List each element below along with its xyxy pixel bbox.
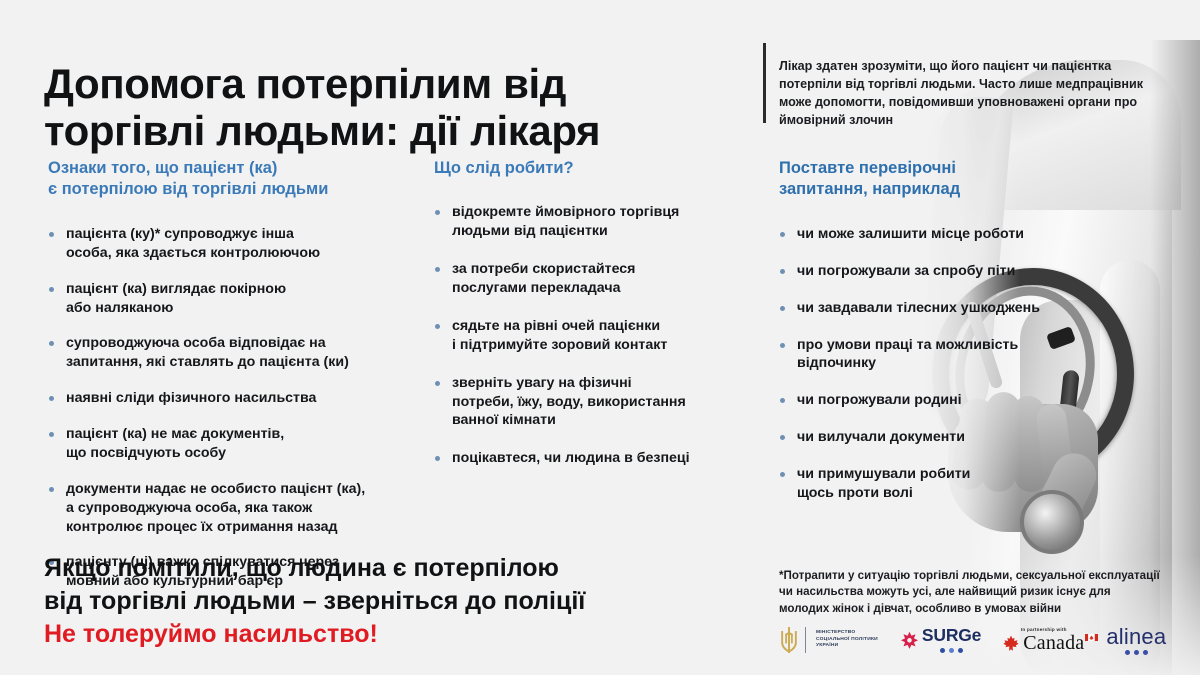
list-item: чи примушували робитищось проти волі [779, 465, 1089, 503]
list-item: про умови праці та можливістьвідпочинку [779, 336, 1089, 374]
alinea-logo: alinea [1106, 626, 1166, 655]
column-signs: Ознаки того, що пацієнт (ка)є потерпілою… [48, 158, 400, 591]
intro-divider [763, 43, 766, 123]
list-item: чи вилучали документи [779, 428, 1089, 447]
footnote: *Потрапити у ситуацію торгівлі людьми, с… [779, 568, 1161, 618]
list-item: пацієнт (ка) не має документів,що посвід… [48, 425, 400, 463]
ministry-logo-text: МІНІСТЕРСТВОСОЦІАЛЬНОЇ ПОЛІТИКИУКРАЇНИ [816, 630, 878, 651]
ministry-of-social-policy-of-ukraine-logo: МІНІСТЕРСТВОСОЦІАЛЬНОЇ ПОЛІТИКИУКРАЇНИ [779, 625, 878, 655]
surge-logo: SURGe [900, 627, 981, 653]
government-of-canada-logo: In partnership with Canada [1003, 627, 1084, 653]
alinea-logo-text: alinea [1106, 626, 1166, 648]
canada-wordmark: Canada [1023, 633, 1084, 653]
logo-divider [805, 627, 806, 653]
list-item: пацієнт (ка) виглядає покірноюабо наляка… [48, 280, 400, 318]
list-what-to-do: відокремте ймовірного торгівцялюдьми від… [434, 203, 734, 468]
column-heading-screening-questions: Поставте перевірочнізапитання, наприклад [779, 158, 1089, 201]
cta-line-2: від торгівлі людьми – зверніться до полі… [44, 585, 734, 618]
column-heading-what-to-do: Що слід робити? [434, 158, 734, 179]
list-item: за потреби скористайтесяпослугами перекл… [434, 260, 734, 298]
cta-slogan: Не толеруймо насильство! [44, 618, 734, 651]
list-item: відокремте ймовірного торгівцялюдьми від… [434, 203, 734, 241]
infographic-poster: Допомога потерпілим відторгівлі людьми: … [0, 0, 1200, 675]
list-item: документи надає не особисто пацієнт (ка)… [48, 480, 400, 537]
alinea-dots-decoration [1125, 650, 1148, 655]
list-item: чи може залишити місце роботи [779, 225, 1089, 244]
ukraine-trident-icon [779, 625, 799, 655]
list-signs: пацієнта (ку)* супроводжує іншаособа, як… [48, 225, 400, 591]
intro-paragraph: Лікар здатен зрозуміти, що його пацієнт … [779, 57, 1161, 130]
list-item: чи завдавали тілесних ушкоджень [779, 299, 1089, 318]
list-item: наявні сліди фізичного насильства [48, 389, 400, 408]
list-item: сядьте на рівні очей пацієнкиі підтримуй… [434, 317, 734, 355]
surge-logo-text: SURGe [922, 627, 981, 645]
maple-leaf-icon [1003, 635, 1019, 652]
surge-mark-icon [900, 631, 919, 650]
list-screening-questions: чи може залишити місце роботи чи погрожу… [779, 225, 1089, 503]
canada-flag-icon [1085, 634, 1098, 641]
call-to-action: Якщо помітили, що людина є потерпілою ві… [44, 552, 734, 651]
list-item: пацієнта (ку)* супроводжує іншаособа, як… [48, 225, 400, 263]
list-item: зверніть увагу на фізичніпотреби, їжу, в… [434, 374, 734, 431]
logo-strip: МІНІСТЕРСТВОСОЦІАЛЬНОЇ ПОЛІТИКИУКРАЇНИ S… [779, 618, 1166, 662]
column-screening-questions: Поставте перевірочнізапитання, наприклад… [779, 158, 1089, 521]
column-heading-signs: Ознаки того, що пацієнт (ка)є потерпілою… [48, 158, 400, 201]
page-title: Допомога потерпілим відторгівлі людьми: … [44, 61, 744, 154]
list-item: супроводжуюча особа відповідає назапитан… [48, 334, 400, 372]
column-what-to-do: Що слід робити? відокремте ймовірного то… [434, 158, 734, 487]
cta-line-1: Якщо помітили, що людина є потерпілою [44, 552, 734, 585]
surge-dots-decoration [940, 648, 963, 653]
list-item: чи погрожували родині [779, 391, 1089, 410]
list-item: поцікавтеся, чи людина в безпеці [434, 449, 734, 468]
list-item: чи погрожували за спробу піти [779, 262, 1089, 281]
